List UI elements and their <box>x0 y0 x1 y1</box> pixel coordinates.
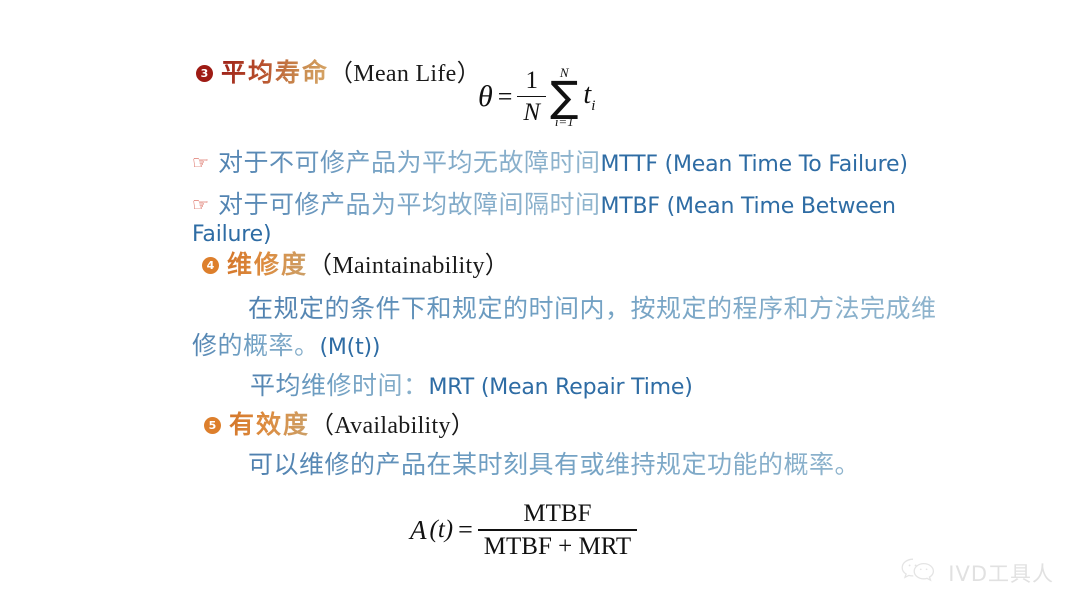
wechat-logo-icon <box>899 555 939 590</box>
bullet-mtbf-en-continued: Failure) <box>192 222 271 247</box>
heading-mean-life-en: （Mean Life） <box>329 61 481 87</box>
formula-numerator-mtbf: MTBF <box>517 500 597 529</box>
maintainability-body-line1: 在规定的条件下和规定的时间内，按规定的程序和方法完成维 <box>248 296 937 321</box>
formula-numerator: 1 <box>520 67 545 96</box>
formula-term-subscript: i <box>591 98 595 114</box>
watermark: IVD工具人 <box>899 555 1054 590</box>
maintainability-text: 在规定的条件下和规定的时间内，按规定的程序和方法完成维 <box>248 294 937 323</box>
mean-life-formula: θ = 1 N N ∑ i=1 ti <box>478 66 595 128</box>
pointing-hand-icon: ☞ <box>192 196 214 215</box>
heading-mean-life: 3平均寿命（Mean Life） <box>196 60 481 86</box>
number-badge-4: 4 <box>202 257 219 274</box>
sigma-icon: ∑ <box>550 79 578 115</box>
number-badge-3: 3 <box>196 65 213 82</box>
bullet-mttf-en: MTTF (Mean Time To Failure) <box>601 152 908 177</box>
heading-availability-cn: 有效度 <box>229 410 310 439</box>
formula-denominator-mtbf-mrt: MTBF + MRT <box>478 531 637 561</box>
maintainability-body-line2: 修的概率。(M(t)) <box>192 333 380 359</box>
number-badge-5: 5 <box>204 417 221 434</box>
formula-a: A <box>410 515 427 546</box>
formula-fraction-one-over-n: 1 N <box>517 67 546 128</box>
mrt-label-en: MRT (Mean Repair Time) <box>429 375 693 400</box>
slide-canvas: 3平均寿命（Mean Life） θ = 1 N N ∑ i=1 ti ☞对于不… <box>0 0 1080 608</box>
formula-denominator: N <box>517 97 546 127</box>
availability-text: 可以维修的产品在某时刻具有或维持规定功能的概率。 <box>248 450 860 479</box>
availability-formula: A(t) = MTBF MTBF + MRT <box>410 500 637 561</box>
heading-availability: 5有效度（Availability） <box>204 412 475 438</box>
heading-mean-life-cn: 平均寿命 <box>221 58 329 87</box>
maintainability-symbol: (M(t)) <box>320 335 381 360</box>
mrt-label-cn: 平均维修时间： <box>250 371 429 400</box>
mrt-line: 平均维修时间：MRT (Mean Repair Time) <box>250 373 693 399</box>
bullet-mtbf-wrap: Failure) <box>192 224 271 246</box>
maintainability-text-continued: 修的概率。 <box>192 331 320 360</box>
formula-fraction-availability: MTBF MTBF + MRT <box>478 500 637 561</box>
heading-maintainability-cn: 维修度 <box>227 250 308 279</box>
formula-equals: = <box>496 82 515 112</box>
summation-operator: N ∑ i=1 <box>550 66 578 128</box>
summation-lower-limit: i=1 <box>555 115 574 128</box>
watermark-text: IVD工具人 <box>948 558 1054 588</box>
formula-equals-2: = <box>456 515 475 545</box>
heading-availability-en: （Availability） <box>310 413 475 439</box>
bullet-mtbf-cn: 对于可修产品为平均故障间隔时间 <box>218 190 601 219</box>
bullet-mtbf: ☞对于可修产品为平均故障间隔时间MTBF (Mean Time Between <box>192 192 896 218</box>
heading-maintainability: 4维修度（Maintainability） <box>202 252 509 278</box>
availability-body-line1: 可以维修的产品在某时刻具有或维持规定功能的概率。 <box>248 452 860 477</box>
bullet-mttf: ☞对于不可修产品为平均无故障时间MTTF (Mean Time To Failu… <box>192 150 908 176</box>
heading-maintainability-en: （Maintainability） <box>308 253 509 279</box>
formula-theta: θ <box>478 80 493 114</box>
bullet-mtbf-en: MTBF (Mean Time Between <box>601 194 896 219</box>
formula-a-argument: (t) <box>430 516 454 544</box>
pointing-hand-icon: ☞ <box>192 154 214 173</box>
bullet-mttf-cn: 对于不可修产品为平均无故障时间 <box>218 148 601 177</box>
